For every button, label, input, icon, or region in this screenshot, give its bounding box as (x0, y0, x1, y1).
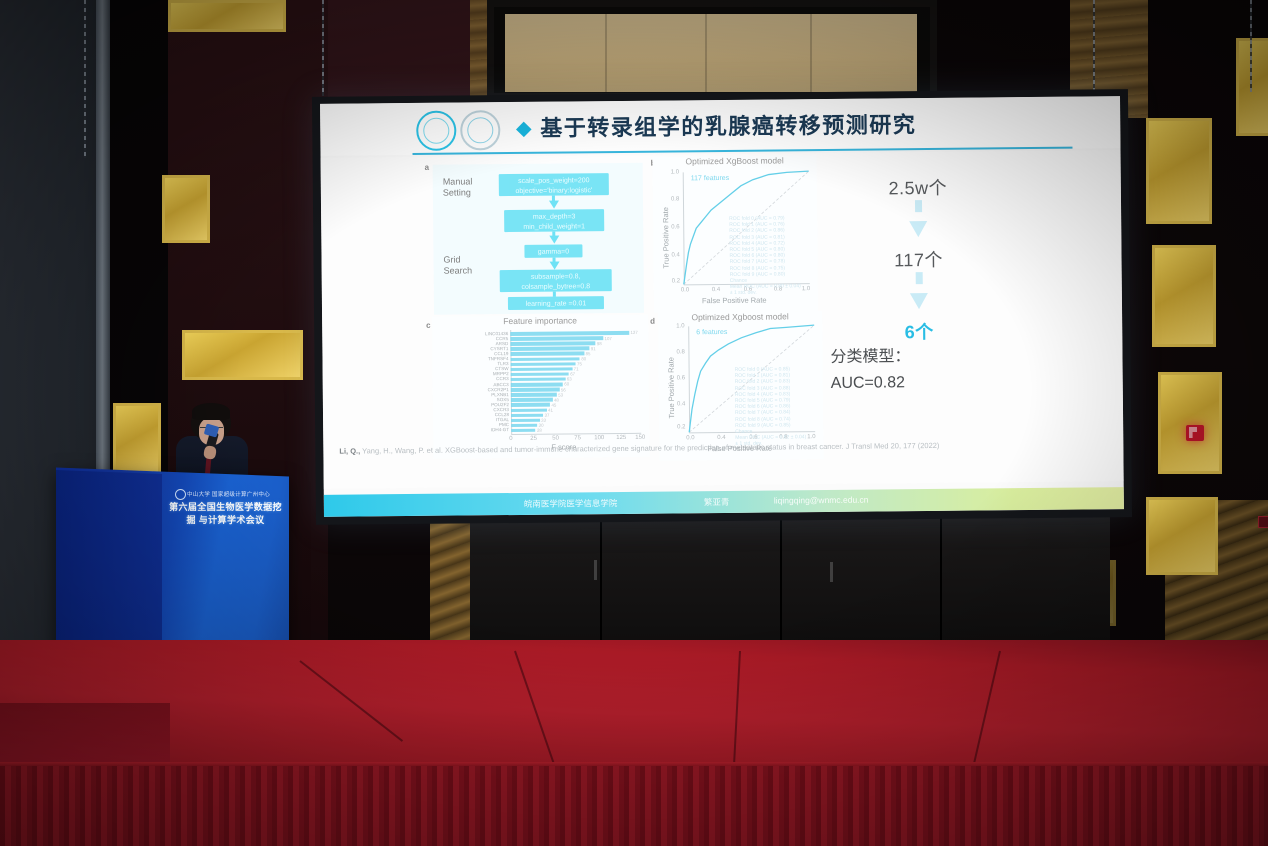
conference-stage-photo: 基于转录组学的乳腺癌转移预测研究 a ManualSetting GridSea… (0, 0, 1268, 846)
projected-slide: 基于转录组学的乳腺癌转移预测研究 a ManualSetting GridSea… (320, 96, 1124, 517)
feature-label: IDH4-GT (433, 428, 509, 433)
slide-header: 基于转录组学的乳腺癌转移预测研究 (320, 96, 1120, 156)
speaker-fringe (192, 403, 230, 420)
suspension-chain (1093, 0, 1095, 90)
y-tick: 0.4 (671, 252, 679, 258)
y-tick: 0.6 (677, 375, 685, 381)
stage-floor (0, 640, 1268, 770)
x-tick: 150 (635, 435, 645, 441)
bullet-diamond-icon (516, 122, 532, 138)
feature-value: 137 (630, 330, 637, 335)
x-tick: 75 (574, 435, 581, 441)
x-tick: 0.0 (681, 287, 689, 293)
panel-d-roc-chart: Optimized Xgboost model 6 features True … (658, 311, 823, 461)
stage-floor-lower-left (0, 703, 170, 763)
panel-b-ylabel: True Positive Rate (661, 207, 671, 269)
flow-arrow-icon (549, 201, 559, 209)
gold-wall-plaque (1236, 38, 1268, 136)
door-handle[interactable] (594, 560, 597, 580)
flow-box-params-3: gamma=0 (524, 244, 582, 258)
flow-arrow-icon (550, 262, 560, 270)
suspension-chain (84, 0, 86, 158)
y-tick: 1.0 (671, 169, 679, 175)
feature-bar (511, 388, 560, 392)
header-seam (810, 14, 812, 92)
feature-bar (510, 352, 584, 356)
y-tick: 1.0 (676, 323, 684, 329)
x-tick: 1.0 (807, 434, 815, 440)
header-seam (705, 14, 707, 92)
y-tick: 0.8 (676, 349, 684, 355)
x-tick: 100 (594, 435, 604, 441)
feature-bar (510, 347, 589, 351)
feature-bar (511, 367, 573, 371)
y-tick: 0.2 (672, 278, 680, 284)
panel-b-roc-chart: Optimized XgBoost model 117 features Tru… (653, 155, 818, 313)
summary-step-3: 6个 (814, 317, 1024, 345)
gold-wall-plaque (1158, 372, 1222, 474)
door-handle[interactable] (830, 562, 833, 582)
legend-entry: ± 1 std. dev. (730, 290, 801, 297)
institution-seal-secondary-icon (460, 110, 500, 150)
feature-bar (510, 336, 603, 340)
feature-bar (511, 377, 566, 381)
gold-wall-plaque (1146, 497, 1218, 575)
institution-seal-icon (416, 111, 456, 151)
stage-header-panel (505, 14, 917, 92)
flow-box-params-5: learning_rate =0.01 (508, 296, 604, 310)
summary-model-label: 分类模型： (830, 343, 1024, 371)
y-tick: 0.2 (677, 424, 685, 430)
slide-footer-bar: 皖南医学院医学信息学院 繁亚青 liqingqing@wnmc.edu.cn (324, 487, 1124, 517)
feature-bar (511, 413, 543, 417)
podium-banner-title: 第六届全国生物医学数据挖掘 与计算学术会议 (168, 501, 283, 526)
feature-bar (511, 408, 547, 412)
podium-logo-row: 中山大学 国家超级计算广州中心 (175, 489, 271, 498)
summary-column: 2.5w个 117个 6个 分类模型： AUC=0.82 (813, 173, 1025, 397)
feature-bar (511, 362, 576, 366)
gold-wall-plaque (182, 330, 303, 380)
gold-wall-plaque (1146, 118, 1212, 224)
flow-box-params-1: scale_pos_weight=200objective='binary:lo… (499, 173, 609, 196)
x-tick: 1.0 (802, 286, 810, 292)
suspension-chain (322, 0, 324, 96)
feature-bar (510, 341, 595, 345)
feature-value: 98 (597, 341, 602, 346)
feature-bar (510, 357, 579, 361)
panel-b-xlabel: False Positive Rate (702, 296, 767, 306)
x-tick: 25 (530, 436, 537, 442)
summary-arrow-icon (813, 199, 1023, 238)
y-tick: 0.4 (677, 401, 685, 407)
feature-value: 53 (558, 392, 563, 397)
footer-speaker: 繁亚青 (704, 496, 730, 508)
exit-icon (1189, 427, 1197, 438)
feature-value: 80 (581, 356, 586, 361)
summary-arrow-icon (814, 271, 1024, 310)
gold-wall-plaque (168, 0, 286, 32)
slide-title: 基于转录组学的乳腺癌转移预测研究 (540, 107, 916, 143)
university-seal-icon (175, 489, 186, 500)
gold-wall-plaque (1152, 245, 1216, 347)
feature-bar (511, 383, 563, 387)
feature-value: 91 (591, 346, 596, 351)
feature-bar (511, 372, 569, 376)
panel-b-legend: ROC fold 0 (AUC = 0.79)ROC fold 1 (AUC =… (729, 215, 801, 296)
feature-bar (511, 418, 540, 422)
podium-logo-text: 中山大学 国家超级计算广州中心 (187, 490, 270, 498)
gold-wall-plaque (162, 175, 210, 243)
feature-bar (511, 393, 557, 397)
panel-a-label: a (425, 163, 430, 172)
exit-sign (1186, 425, 1204, 441)
x-tick: 0.4 (717, 435, 725, 441)
x-tick: 125 (616, 435, 626, 441)
footer-organization: 皖南医学院医学信息学院 (524, 497, 618, 510)
suspension-chain (1250, 0, 1252, 92)
x-tick: 0.4 (712, 287, 720, 293)
y-tick: 0.8 (671, 196, 679, 202)
summary-step-1: 2.5w个 (813, 173, 1023, 201)
feature-bar (511, 398, 553, 402)
flow-group-grid-search: GridSearch (443, 254, 491, 276)
x-tick: 0.0 (686, 435, 694, 441)
panel-c-feature-importance-chart: Feature importance LINC01436137CCR5107AR… (432, 315, 649, 459)
panel-c-label: c (426, 321, 431, 330)
slide-body: a ManualSetting GridSearch scale_pos_wei… (321, 150, 1124, 489)
summary-auc: AUC=0.82 (831, 369, 1025, 397)
stage-skirt-curtain (0, 766, 1268, 846)
x-tick: 0 (509, 436, 512, 442)
feature-bar (511, 429, 535, 433)
feature-bar (511, 424, 537, 428)
panel-c-title: Feature importance (432, 315, 648, 327)
feature-bar (511, 403, 550, 407)
wall-notice-sign (1258, 516, 1268, 528)
panel-d-ylabel: True Positive Rate (666, 357, 676, 419)
panel-d-legend: ROC fold 0 (AUC = 0.85)ROC fold 1 (AUC =… (735, 366, 807, 447)
feature-value: 28 (537, 428, 542, 433)
panel-d-label: d (650, 317, 655, 326)
y-tick: 0.6 (671, 224, 679, 230)
projection-screen-frame: 基于转录组学的乳腺癌转移预测研究 a ManualSetting GridSea… (312, 89, 1132, 525)
x-tick: 50 (552, 436, 559, 442)
flow-group-manual-setting: ManualSetting (443, 176, 491, 198)
feature-value: 107 (604, 336, 611, 341)
citation-first-author: Li, Q., (339, 446, 360, 455)
footer-email: liqingqing@wnmc.edu.cn (774, 495, 869, 506)
flow-box-params-2: max_depth=3min_child_weight=1 (504, 209, 604, 232)
summary-step-2: 117个 (813, 245, 1023, 273)
flow-arrow-icon (549, 236, 559, 244)
header-seam (605, 14, 607, 92)
flow-box-params-4: subsample=0.8,colsample_bytree=0.8 (500, 269, 612, 292)
